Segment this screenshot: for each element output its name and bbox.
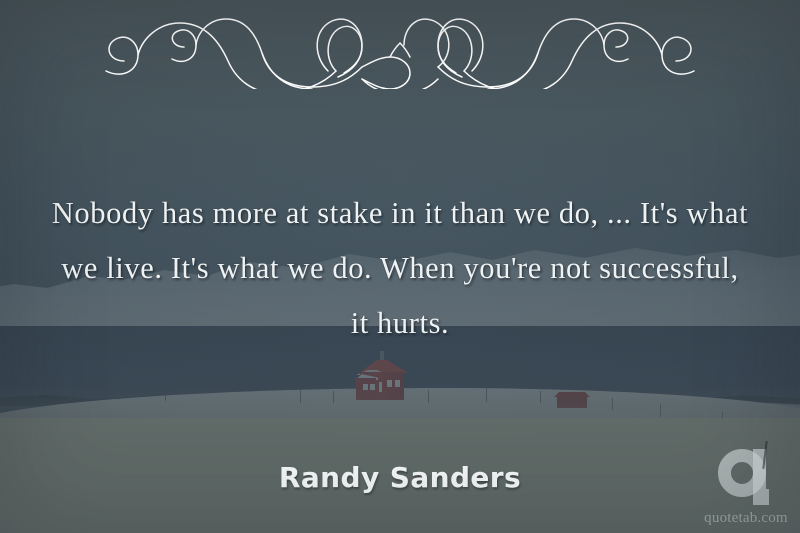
quote-text: Nobody has more at stake in it than we d… [50, 186, 750, 351]
quotetab-watermark[interactable]: quotetab.com [700, 443, 792, 529]
quote-card: Nobody has more at stake in it than we d… [0, 0, 800, 533]
flourish-ornament [0, 6, 800, 92]
watermark-site-label: quotetab.com [700, 510, 792, 527]
author-name: Randy Sanders [0, 461, 800, 494]
quotetab-logo-icon [718, 443, 776, 505]
card-content: Nobody has more at stake in it than we d… [0, 0, 800, 533]
logo-tail [753, 489, 769, 505]
flourish-icon [80, 9, 720, 89]
